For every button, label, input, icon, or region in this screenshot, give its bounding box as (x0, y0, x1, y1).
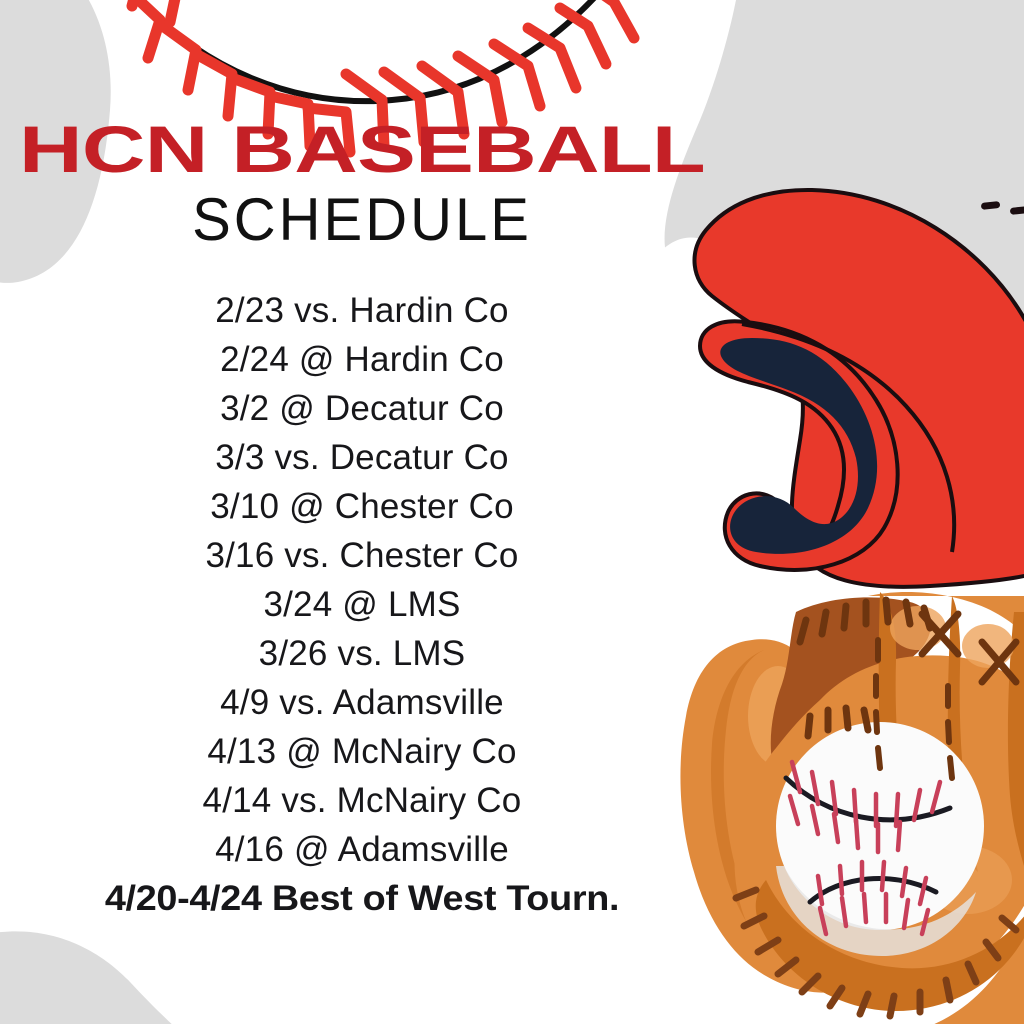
schedule-row: 3/2 @ Decatur Co (0, 384, 724, 433)
schedule-row: 2/23 vs. Hardin Co (0, 286, 724, 335)
glove-thumb-highlight (748, 666, 808, 766)
schedule-row: 4/16 @ Adamsville (0, 825, 724, 874)
schedule-row: 2/24 @ Hardin Co (0, 335, 724, 384)
page-title: HCN BASEBALL (0, 116, 876, 186)
glove-palm-highlight (924, 846, 1012, 914)
glove-dashed-ridge (876, 640, 952, 778)
helmet-earflap-outer (700, 321, 898, 570)
title-block: HCN BASEBALL SCHEDULE (0, 116, 724, 250)
helmet-seam-line (742, 324, 954, 552)
schedule-row-tournament: 4/20-4/24 Best of West Tourn. (0, 874, 753, 923)
helmet-interior-navy (720, 338, 877, 554)
page-subtitle: SCHEDULE (0, 189, 724, 251)
schedule-row: 3/3 vs. Decatur Co (0, 433, 724, 482)
schedule-row: 4/13 @ McNairy Co (0, 727, 724, 776)
glove-stitch-perimeter (736, 890, 1016, 1016)
glove-stitch-web-top (800, 600, 930, 642)
helmet-shell (695, 190, 1024, 587)
schedule-row: 3/16 vs. Chester Co (0, 531, 724, 580)
glove-palm-shadow (756, 880, 1024, 1011)
glove-finger-highlight-1 (890, 606, 946, 650)
baseball-schedule-poster: HCN BASEBALL SCHEDULE 2/23 vs. Hardin Co… (0, 0, 1024, 1024)
baseball-shading (776, 866, 976, 956)
glove-web-strap (771, 597, 931, 792)
glove-palm-right (868, 592, 1024, 1024)
seam-thread (118, 0, 626, 101)
baseball-body (776, 722, 984, 930)
glove-stitch-web-bottom (808, 708, 868, 736)
grey-blob-bottom-left (0, 931, 182, 1024)
schedule-row: 4/14 vs. McNairy Co (0, 776, 724, 825)
schedule-row: 3/26 vs. LMS (0, 629, 724, 678)
glove-x-lacing (922, 614, 1016, 682)
glove-finger-highlight-2 (962, 624, 1014, 668)
baseball-stitches-upper (790, 762, 940, 852)
baseball-seam-lower (810, 879, 936, 902)
helmet-vent-holes (981, 201, 1024, 215)
baseball-stitches-lower (818, 862, 928, 934)
schedule-row: 4/9 vs. Adamsville (0, 678, 724, 727)
glove-finger-divider-1 (879, 592, 916, 866)
schedule-row: 3/24 @ LMS (0, 580, 724, 629)
glove-finger-divider-3 (1008, 612, 1024, 866)
schedule-row: 3/10 @ Chester Co (0, 482, 724, 531)
baseball-seam-upper (786, 778, 950, 820)
schedule-list: 2/23 vs. Hardin Co 2/24 @ Hardin Co 3/2 … (0, 286, 724, 923)
glove-palm-body (734, 655, 1024, 1000)
glove-finger-divider-2 (948, 596, 978, 872)
